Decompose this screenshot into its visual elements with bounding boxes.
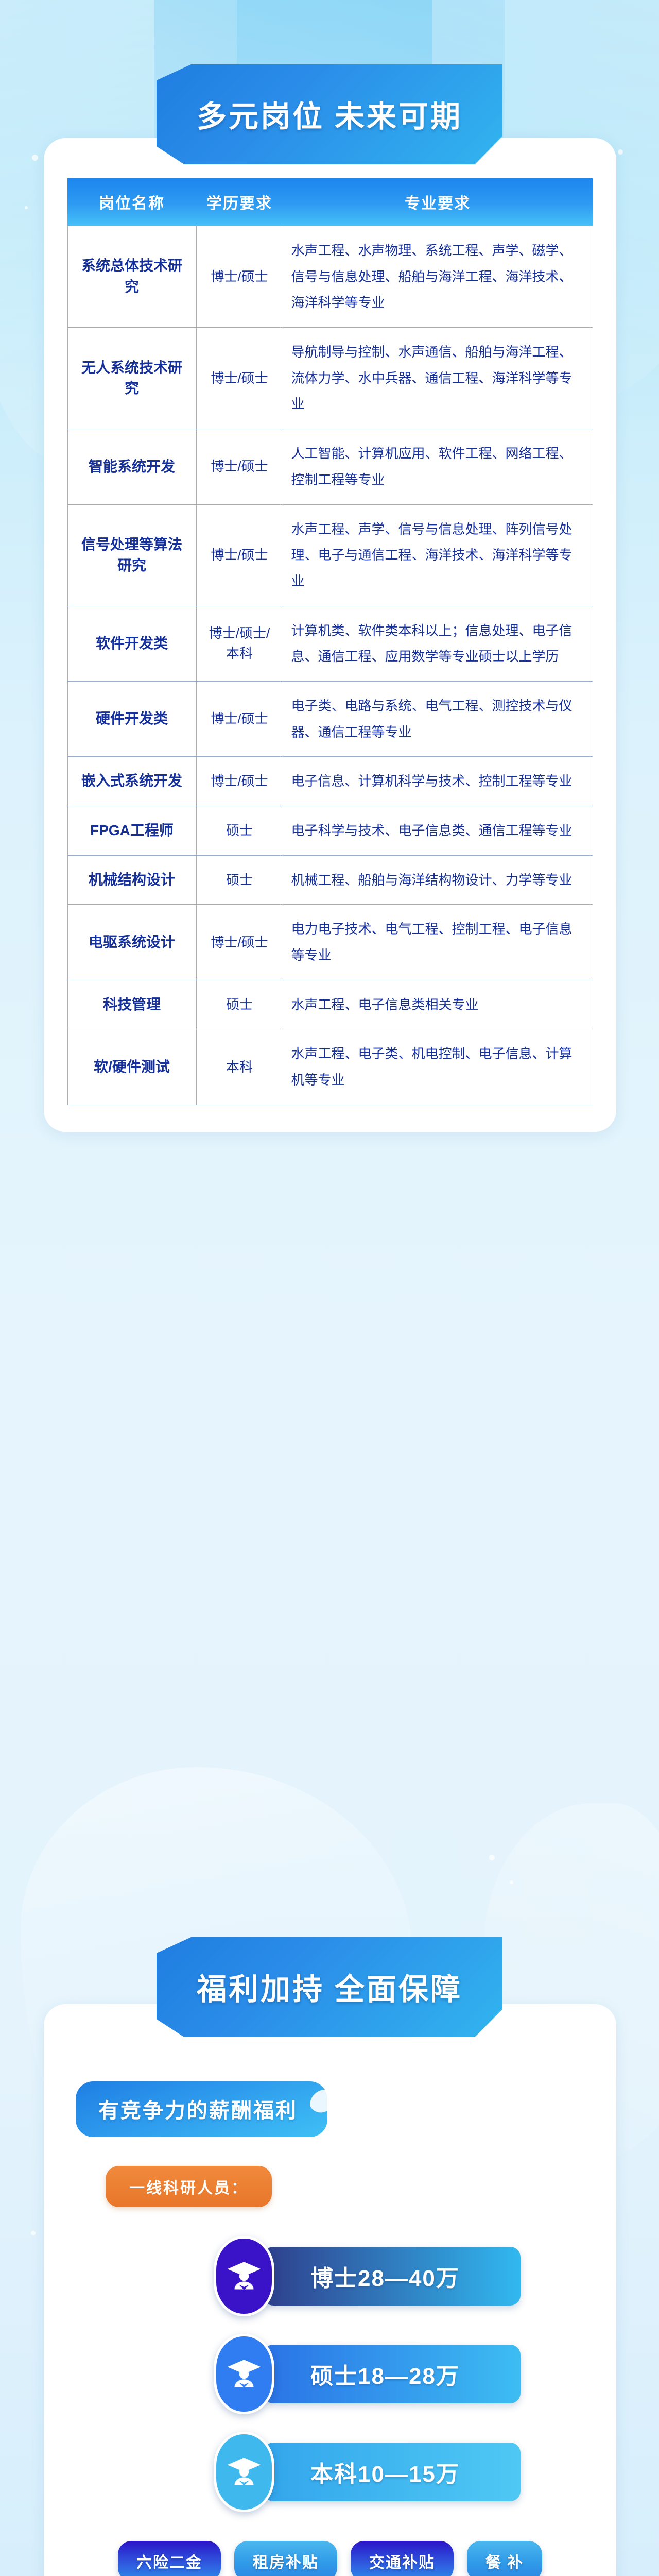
table-row: 嵌入式系统开发博士/硕士电子信息、计算机科学与技术、控制工程等专业: [67, 757, 593, 806]
salary-level-row: 博士28—40万: [214, 2236, 616, 2316]
cell-education: 硕士: [196, 980, 283, 1029]
cell-position-name: 硬件开发类: [67, 681, 196, 756]
bubble-decoration: [31, 2231, 36, 2235]
cell-major: 电力电子技术、电气工程、控制工程、电子信息等专业: [283, 905, 593, 980]
positions-card: 岗位名称 学历要求 专业要求 系统总体技术研究博士/硕士水声工程、水声物理、系统…: [44, 138, 616, 1132]
salary-group-label: 一线科研人员：: [106, 2166, 272, 2207]
col-header-major: 专业要求: [283, 178, 593, 226]
table-row: 科技管理硕士水声工程、电子信息类相关专业: [67, 980, 593, 1029]
benefit-chip: 租房补贴: [234, 2541, 337, 2576]
benefits-card: 有竞争力的薪酬福利 一线科研人员： 博士28—40万硕士18—28万本科10—1…: [44, 2004, 616, 2576]
table-header-row: 岗位名称 学历要求 专业要求: [67, 178, 593, 226]
benefit-chip: 餐 补: [467, 2541, 542, 2576]
cell-major: 电子信息、计算机科学与技术、控制工程等专业: [283, 757, 593, 806]
positions-table: 岗位名称 学历要求 专业要求 系统总体技术研究博士/硕士水声工程、水声物理、系统…: [67, 178, 593, 1105]
cell-position-name: FPGA工程师: [67, 806, 196, 856]
salary-level-row: 硕士18—28万: [214, 2334, 616, 2414]
graduation-cap-icon: [214, 2334, 274, 2414]
cell-major: 人工智能、计算机应用、软件工程、网络工程、控制工程等专业: [283, 429, 593, 504]
cell-education: 博士/硕士: [196, 429, 283, 504]
bubble-decoration: [489, 1855, 495, 1860]
salary-level-label: 博士28—40万: [263, 2247, 521, 2306]
bubble-decoration: [510, 1880, 513, 1884]
cell-education: 本科: [196, 1029, 283, 1105]
table-row: 智能系统开发博士/硕士人工智能、计算机应用、软件工程、网络工程、控制工程等专业: [67, 429, 593, 504]
table-row: FPGA工程师硕士电子科学与技术、电子信息类、通信工程等专业: [67, 806, 593, 856]
benefits-banner: 福利加持 全面保障: [0, 1937, 659, 2037]
salary-level-label: 本科10—15万: [263, 2443, 521, 2501]
table-row: 硬件开发类博士/硕士电子类、电路与系统、电气工程、测控技术与仪器、通信工程等专业: [67, 681, 593, 756]
salary-level-list: 博士28—40万硕士18—28万本科10—15万: [44, 2236, 616, 2512]
benefit-chip: 六险二金: [118, 2541, 221, 2576]
cell-major: 水声工程、水声物理、系统工程、声学、磁学、信号与信息处理、船舶与海洋工程、海洋技…: [283, 226, 593, 328]
graduation-cap-icon: [214, 2432, 274, 2512]
bubble-decoration: [25, 206, 28, 209]
salary-subtitle-row: 有竞争力的薪酬福利: [44, 2081, 616, 2137]
cell-position-name: 信号处理等算法研究: [67, 504, 196, 606]
cell-education: 博士/硕士/本科: [196, 606, 283, 681]
cell-education: 博士/硕士: [196, 757, 283, 806]
cell-position-name: 科技管理: [67, 980, 196, 1029]
cell-education: 硕士: [196, 855, 283, 905]
cell-position-name: 机械结构设计: [67, 855, 196, 905]
cell-education: 硕士: [196, 806, 283, 856]
positions-banner-text: 多元岗位 未来可期: [157, 64, 502, 164]
cell-position-name: 智能系统开发: [67, 429, 196, 504]
cell-major: 导航制导与控制、水声通信、船舶与海洋工程、流体力学、水中兵器、通信工程、海洋科学…: [283, 328, 593, 429]
cell-position-name: 系统总体技术研究: [67, 226, 196, 328]
cell-education: 博士/硕士: [196, 504, 283, 606]
cell-major: 水声工程、声学、信号与信息处理、阵列信号处理、电子与通信工程、海洋技术、海洋科学…: [283, 504, 593, 606]
benefit-chip: 交通补贴: [351, 2541, 454, 2576]
positions-table-head: 岗位名称 学历要求 专业要求: [67, 178, 593, 226]
salary-subtitle: 有竞争力的薪酬福利: [76, 2081, 327, 2137]
benefits-banner-text: 福利加持 全面保障: [157, 1937, 502, 2037]
cell-education: 博士/硕士: [196, 226, 283, 328]
cell-position-name: 嵌入式系统开发: [67, 757, 196, 806]
cell-position-name: 软/硬件测试: [67, 1029, 196, 1105]
table-row: 软件开发类博士/硕士/本科计算机类、软件类本科以上；信息处理、电子信息、通信工程…: [67, 606, 593, 681]
table-row: 机械结构设计硕士机械工程、船舶与海洋结构物设计、力学等专业: [67, 855, 593, 905]
table-row: 系统总体技术研究博士/硕士水声工程、水声物理、系统工程、声学、磁学、信号与信息处…: [67, 226, 593, 328]
cell-education: 博士/硕士: [196, 681, 283, 756]
col-header-education: 学历要求: [196, 178, 283, 226]
col-header-position-name: 岗位名称: [67, 178, 196, 226]
salary-level-row: 本科10—15万: [214, 2432, 616, 2512]
cell-position-name: 无人系统技术研究: [67, 328, 196, 429]
cell-position-name: 软件开发类: [67, 606, 196, 681]
cell-major: 电子类、电路与系统、电气工程、测控技术与仪器、通信工程等专业: [283, 681, 593, 756]
table-row: 电驱系统设计博士/硕士电力电子技术、电气工程、控制工程、电子信息等专业: [67, 905, 593, 980]
graduation-cap-icon: [214, 2236, 274, 2316]
cell-position-name: 电驱系统设计: [67, 905, 196, 980]
cell-major: 水声工程、电子信息类相关专业: [283, 980, 593, 1029]
table-row: 无人系统技术研究博士/硕士导航制导与控制、水声通信、船舶与海洋工程、流体力学、水…: [67, 328, 593, 429]
positions-banner: 多元岗位 未来可期: [0, 64, 659, 164]
cell-major: 计算机类、软件类本科以上；信息处理、电子信息、通信工程、应用数学等专业硕士以上学…: [283, 606, 593, 681]
welfare-chip-list: 六险二金租房补贴交通补贴餐 补通讯补贴职工疗休养新婚慰问子女出生慰问带薪休假高温…: [44, 2541, 616, 2576]
poster-page: 多元岗位 未来可期 岗位名称 学历要求 专业要求 系统总体技术研究博士/硕士水声…: [0, 0, 659, 2576]
table-row: 信号处理等算法研究博士/硕士水声工程、声学、信号与信息处理、阵列信号处理、电子与…: [67, 504, 593, 606]
cell-major: 水声工程、电子类、机电控制、电子信息、计算机等专业: [283, 1029, 593, 1105]
cell-education: 博士/硕士: [196, 905, 283, 980]
cell-major: 电子科学与技术、电子信息类、通信工程等专业: [283, 806, 593, 856]
salary-level-label: 硕士18—28万: [263, 2345, 521, 2403]
cell-education: 博士/硕士: [196, 328, 283, 429]
table-row: 软/硬件测试本科水声工程、电子类、机电控制、电子信息、计算机等专业: [67, 1029, 593, 1105]
cell-major: 机械工程、船舶与海洋结构物设计、力学等专业: [283, 855, 593, 905]
salary-group-row: 一线科研人员：: [44, 2166, 616, 2207]
positions-table-body: 系统总体技术研究博士/硕士水声工程、水声物理、系统工程、声学、磁学、信号与信息处…: [67, 226, 593, 1105]
